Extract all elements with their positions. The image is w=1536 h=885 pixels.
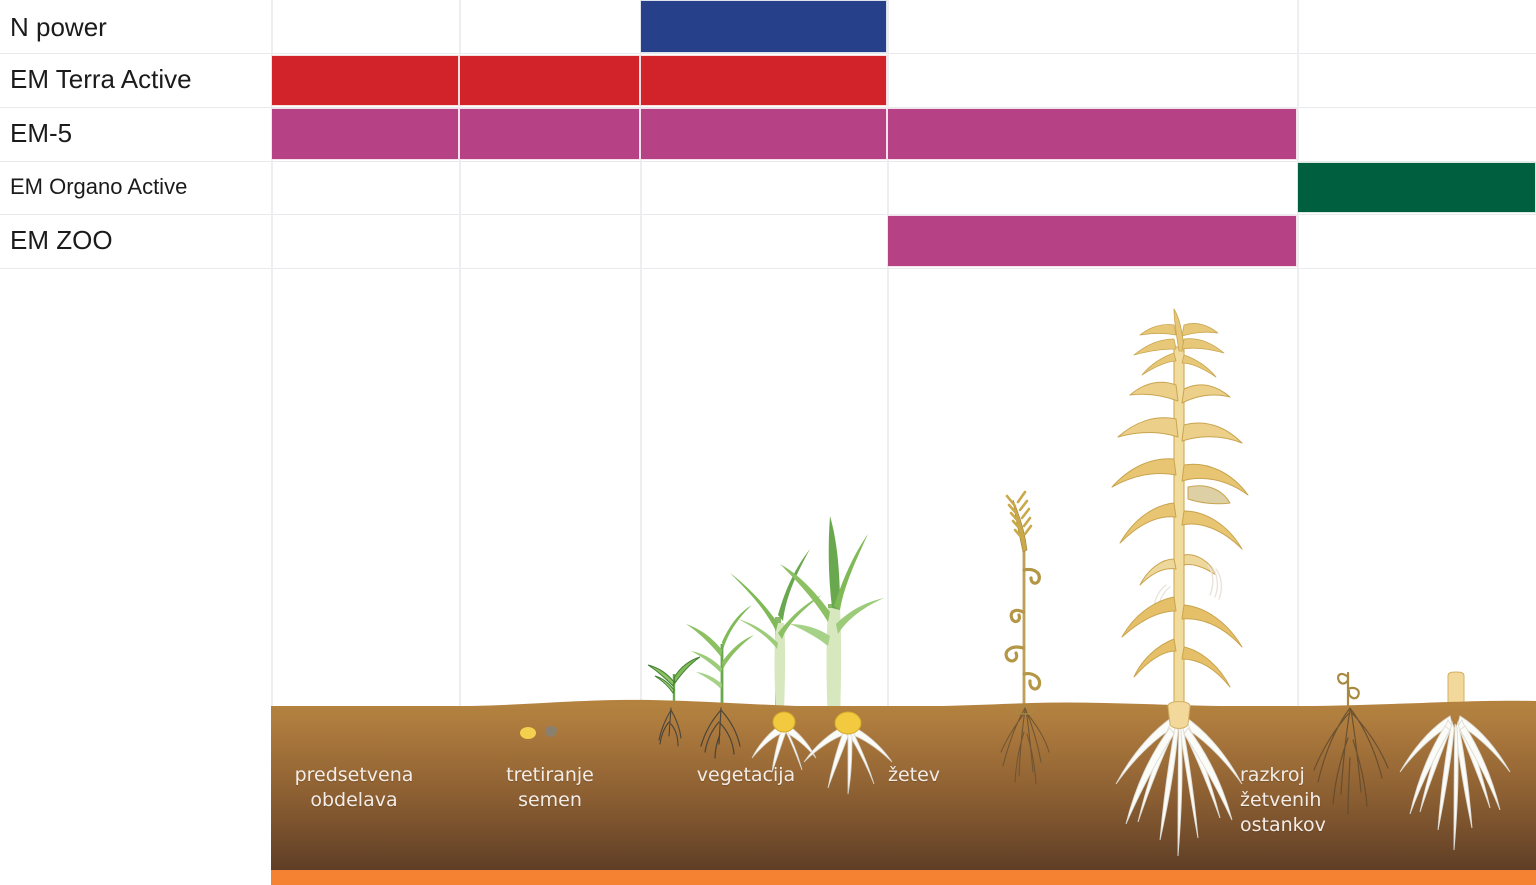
stage-label-line-3: ostankov xyxy=(1240,813,1368,838)
stage-label-line-1: tretiranje xyxy=(461,763,639,788)
gray-seed xyxy=(544,724,562,739)
em-organo-active-bar-razkroj[interactable] xyxy=(1297,162,1536,213)
row-label-em-organo-active: EM Organo Active xyxy=(10,174,187,200)
stage-label-tretiranje-semen: tretiranje semen xyxy=(461,763,639,813)
mature-corn-plant xyxy=(1096,307,1266,707)
crop-cycle-scene: predsetvena obdelava tretiranje semen ve… xyxy=(0,272,1536,885)
stage-label-line-1: razkroj xyxy=(1240,763,1368,788)
scene-divider-5 xyxy=(1297,272,1299,706)
stage-label-zetev: žetev xyxy=(888,763,1024,788)
row-label-em-zoo: EM ZOO xyxy=(10,225,113,256)
em-terra-active-bar-vegetacija[interactable] xyxy=(640,55,887,106)
em-terra-active-bar-predsetvena[interactable] xyxy=(271,55,459,106)
yellow-seed xyxy=(519,725,539,741)
row-label-n-power: N power xyxy=(10,12,107,43)
em-5-bar-tretiranje[interactable] xyxy=(459,108,640,160)
scene-divider-2 xyxy=(459,272,461,706)
stage-label-line-1: vegetacija xyxy=(657,763,835,788)
stage-label-predsetvena-obdelava: predsetvena obdelava xyxy=(265,763,443,813)
em-terra-active-bar-tretiranje[interactable] xyxy=(459,55,640,106)
gantt-chart: N power EM Terra Active EM-5 EM Organo A… xyxy=(0,0,1536,272)
corn-plant-roots xyxy=(1108,706,1250,876)
row-separator xyxy=(0,214,1536,215)
orange-bottom-strip xyxy=(271,870,1536,885)
scene-divider-1 xyxy=(271,272,273,706)
mature-wheat-stalk xyxy=(985,472,1065,712)
em-5-bar-vegetacija[interactable] xyxy=(640,108,887,160)
stage-label-vegetacija: vegetacija xyxy=(657,763,835,788)
stage-label-line-2: semen xyxy=(461,788,639,813)
diagram-root: N power EM Terra Active EM-5 EM Organo A… xyxy=(0,0,1536,885)
em-5-bar-predsetvena[interactable] xyxy=(271,108,459,160)
stage-label-line-2: obdelava xyxy=(265,788,443,813)
column-divider-5 xyxy=(1297,0,1299,272)
stage-label-line-1: žetev xyxy=(888,763,1024,788)
row-label-em-terra-active: EM Terra Active xyxy=(10,64,192,95)
row-separator xyxy=(0,53,1536,54)
em-zoo-bar-zetev[interactable] xyxy=(887,215,1297,267)
seedling-2-roots xyxy=(690,708,750,762)
row-separator xyxy=(0,268,1536,269)
corn-stubble-roots xyxy=(1398,710,1514,870)
seedling-1-roots xyxy=(645,708,695,754)
em-5-bar-zetev[interactable] xyxy=(887,108,1297,160)
stage-label-line-2: žetvenih xyxy=(1240,788,1368,813)
n-power-bar-vegetacija[interactable] xyxy=(640,0,887,53)
seedling-4-roots xyxy=(800,710,896,802)
stage-label-razkroj: razkroj žetvenih ostankov xyxy=(1240,763,1368,838)
row-label-em-5: EM-5 xyxy=(10,118,72,149)
stage-label-line-1: predsetvena xyxy=(265,763,443,788)
